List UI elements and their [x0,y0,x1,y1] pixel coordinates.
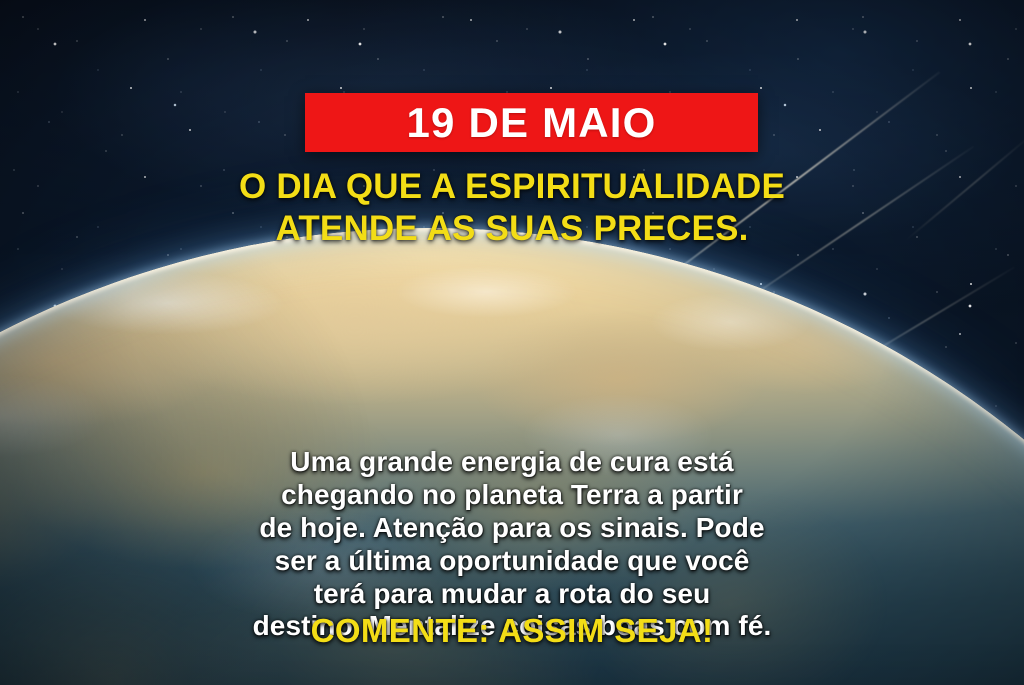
poster-content: 19 DE MAIO O DIA QUE A ESPIRITUALIDADE A… [0,0,1024,685]
headline-line-2: ATENDE AS SUAS PRECES. [0,208,1024,250]
call-to-action-text: COMENTE: ASSIM SEJA! [0,613,1024,649]
body-line-4: ser a última oportunidade que você [0,545,1024,578]
body-line-3: de hoje. Atenção para os sinais. Pode [0,512,1024,545]
body-line-2: chegando no planeta Terra a partir [0,479,1024,512]
date-banner-text: 19 DE MAIO [406,102,656,144]
body-line-1: Uma grande energia de cura está [0,446,1024,479]
poster-canvas: 19 DE MAIO O DIA QUE A ESPIRITUALIDADE A… [0,0,1024,685]
headline: O DIA QUE A ESPIRITUALIDADE ATENDE AS SU… [0,166,1024,250]
date-banner: 19 DE MAIO [305,93,758,152]
headline-line-1: O DIA QUE A ESPIRITUALIDADE [0,166,1024,208]
body-line-5: terá para mudar a rota do seu [0,578,1024,611]
